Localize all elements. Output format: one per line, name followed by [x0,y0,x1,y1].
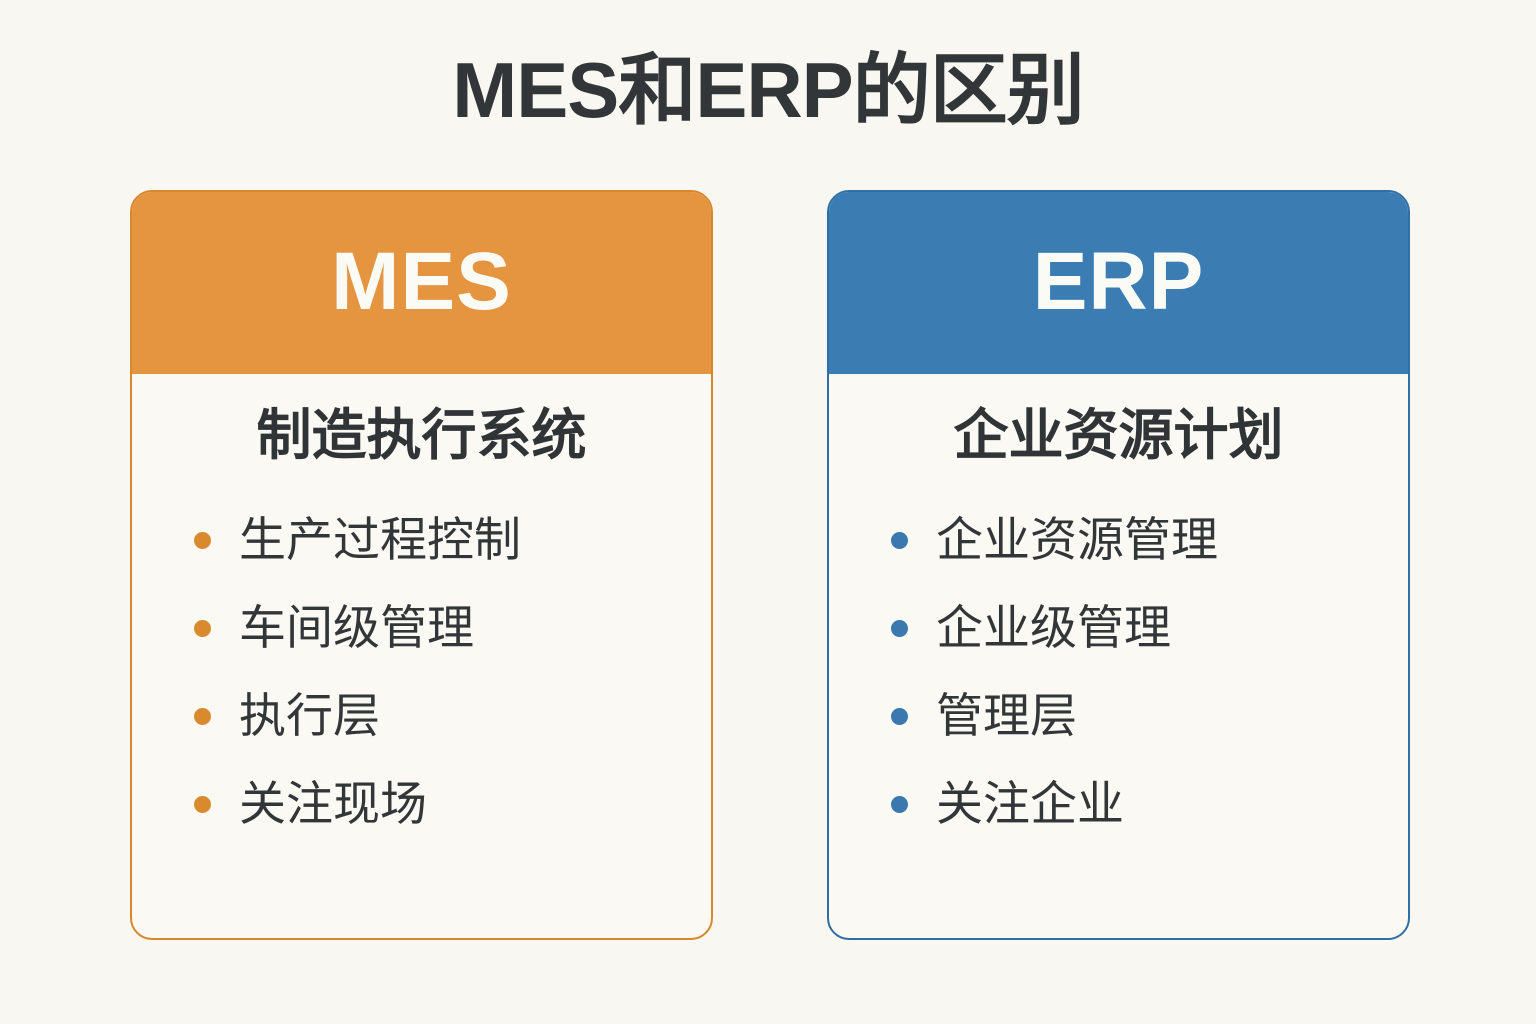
card-mes-header-label: MES [331,241,512,323]
list-item-label: 执行层 [239,689,380,743]
bullet-dot-icon [194,708,211,725]
bullet-dot-icon [891,708,908,725]
list-item: 生产过程控制 [194,496,711,584]
card-mes-subtitle: 制造执行系统 [256,402,586,468]
list-item-label: 车间级管理 [239,601,474,655]
list-item: 管理层 [891,672,1408,760]
list-item: 关注企业 [891,760,1408,848]
list-item: 车间级管理 [194,584,711,672]
card-mes: MES 制造执行系统 生产过程控制 车间级管理 执行层 [130,190,713,940]
list-item: 企业级管理 [891,584,1408,672]
bullet-dot-icon [891,532,908,549]
card-erp-header: ERP [827,190,1410,374]
bullet-dot-icon [891,620,908,637]
list-item-label: 生产过程控制 [239,513,521,567]
list-item: 执行层 [194,672,711,760]
card-erp-bullet-list: 企业资源管理 企业级管理 管理层 关注企业 [829,496,1408,848]
card-mes-bullet-list: 生产过程控制 车间级管理 执行层 关注现场 [132,496,711,848]
card-mes-header: MES [130,190,713,374]
comparison-cards: MES 制造执行系统 生产过程控制 车间级管理 执行层 [130,190,1410,940]
infographic-page: MES和ERP的区别 MES 制造执行系统 生产过程控制 车间级管理 [0,0,1536,1024]
card-erp-header-label: ERP [1033,241,1205,323]
bullet-dot-icon [194,796,211,813]
bullet-dot-icon [194,620,211,637]
list-item-label: 企业资源管理 [936,513,1218,567]
card-mes-body: 制造执行系统 生产过程控制 车间级管理 执行层 [132,374,711,938]
list-item-label: 关注现场 [239,777,427,831]
page-title: MES和ERP的区别 [0,48,1536,134]
list-item: 企业资源管理 [891,496,1408,584]
card-erp: ERP 企业资源计划 企业资源管理 企业级管理 管理层 [827,190,1410,940]
list-item-label: 管理层 [936,689,1077,743]
list-item-label: 企业级管理 [936,601,1171,655]
list-item-label: 关注企业 [936,777,1124,831]
bullet-dot-icon [891,796,908,813]
bullet-dot-icon [194,532,211,549]
card-erp-subtitle: 企业资源计划 [953,402,1283,468]
card-erp-body: 企业资源计划 企业资源管理 企业级管理 管理层 [829,374,1408,938]
list-item: 关注现场 [194,760,711,848]
